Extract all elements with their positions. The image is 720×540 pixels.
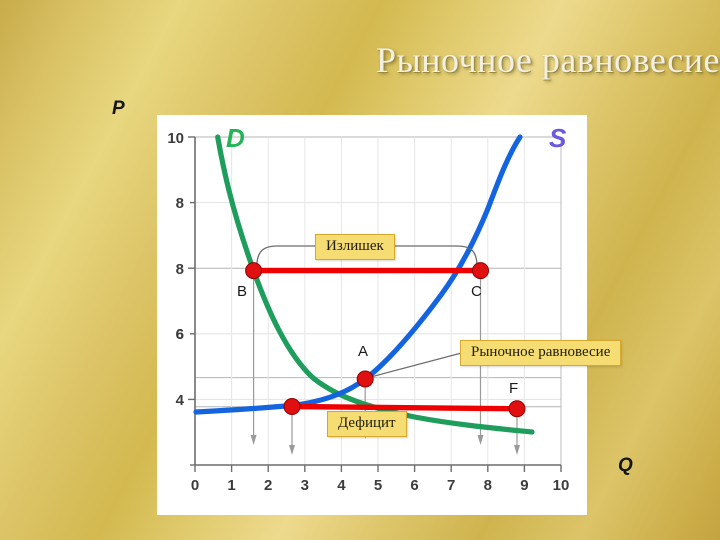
point-a-marker (357, 371, 373, 387)
chart-svg: 10 8 6 4 2 8 6 0 1 2 3 4 5 6 7 8 9 10 (157, 115, 587, 515)
svg-text:9: 9 (520, 477, 528, 494)
point-f-marker (509, 401, 525, 417)
point-label-b: B (237, 283, 247, 300)
supply-demand-chart: 10 8 6 4 2 8 6 0 1 2 3 4 5 6 7 8 9 10 (157, 115, 587, 515)
callout-deficit[interactable]: Дефицит (327, 411, 407, 437)
svg-text:3: 3 (301, 477, 309, 494)
svg-text:10: 10 (167, 130, 184, 147)
svg-text:6: 6 (176, 326, 184, 343)
svg-text:6: 6 (410, 477, 418, 494)
demand-curve-tag: D (226, 123, 245, 154)
svg-text:4: 4 (337, 477, 346, 494)
deficit-segment (292, 407, 517, 409)
point-label-f: F (509, 380, 518, 397)
point-c-marker (473, 263, 489, 279)
svg-text:0: 0 (191, 477, 199, 494)
y-axis-ticks (188, 137, 195, 465)
point-b-marker (246, 263, 262, 279)
svg-text:8: 8 (484, 477, 492, 494)
svg-text:8: 8 (176, 195, 184, 212)
callout-equilibrium[interactable]: Рыночное равновесие (460, 340, 621, 366)
point-label-c: C (471, 283, 482, 300)
svg-text:4: 4 (176, 392, 185, 409)
svg-text:10: 10 (553, 477, 570, 494)
supply-curve-tag: S (549, 123, 566, 154)
page-title: Рыночное равновесие (180, 36, 720, 84)
x-tick-labels: 0 1 2 3 4 5 6 7 8 9 10 (191, 477, 570, 494)
svg-text:2: 2 (264, 477, 272, 494)
supply-curve (196, 137, 520, 412)
point-label-a: A (358, 343, 368, 360)
svg-text:1: 1 (227, 477, 235, 494)
demand-curve (218, 137, 532, 432)
price-axis-label: P (112, 98, 125, 120)
slide-root: { "slide": { "title": "Рыночное равновес… (0, 0, 720, 540)
svg-text:5: 5 (374, 477, 382, 494)
point-e-marker (284, 399, 300, 415)
y-tick-labels: 10 8 6 4 2 (167, 130, 184, 475)
callout-surplus[interactable]: Излишек (315, 234, 395, 260)
x-axis-ticks (195, 465, 561, 472)
svg-text:7: 7 (447, 477, 455, 494)
quantity-axis-label: Q (618, 455, 633, 477)
svg-text:8: 8 (176, 261, 184, 278)
